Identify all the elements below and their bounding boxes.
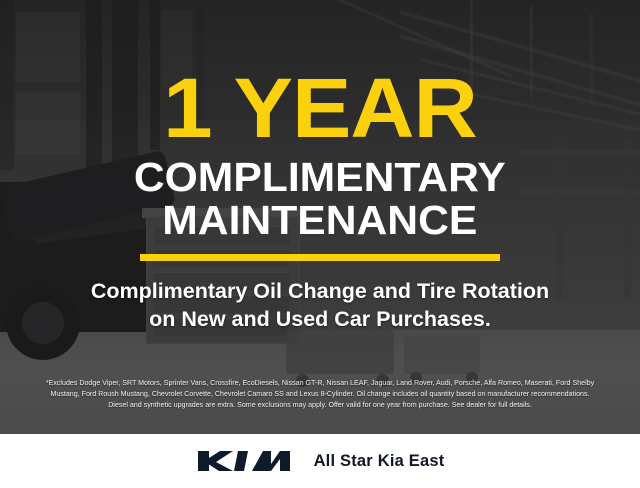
offer-line-1: Complimentary Oil Change and Tire Rotati… xyxy=(91,278,549,306)
headline-line-complimentary: COMPLIMENTARY xyxy=(134,156,506,199)
yellow-divider-bar xyxy=(140,254,500,261)
disclaimer-line-3: Diesel and synthetic upgrades are extra.… xyxy=(12,400,628,411)
kia-logo xyxy=(196,448,292,474)
disclaimer-line-1: *Excludes Dodge Viper, SRT Motors, Sprin… xyxy=(12,378,628,389)
disclaimer-text: *Excludes Dodge Viper, SRT Motors, Sprin… xyxy=(0,378,640,410)
offer-line-2: on New and Used Car Purchases. xyxy=(91,306,549,334)
offer-description: Complimentary Oil Change and Tire Rotati… xyxy=(91,278,549,333)
promo-content: 1 YEAR COMPLIMENTARY MAINTENANCE Complim… xyxy=(0,0,640,488)
headline-subtitle: COMPLIMENTARY MAINTENANCE xyxy=(134,156,506,241)
headline-line-maintenance: MAINTENANCE xyxy=(134,199,506,242)
dealer-name: All Star Kia East xyxy=(314,452,445,471)
dealer-footer: All Star Kia East xyxy=(0,434,640,488)
maintenance-offer-banner: 1 YEAR COMPLIMENTARY MAINTENANCE Complim… xyxy=(0,0,640,488)
headline-year: 1 YEAR xyxy=(163,72,477,144)
disclaimer-line-2: Mustang, Ford Roush Mustang, Chevrolet C… xyxy=(12,389,628,400)
